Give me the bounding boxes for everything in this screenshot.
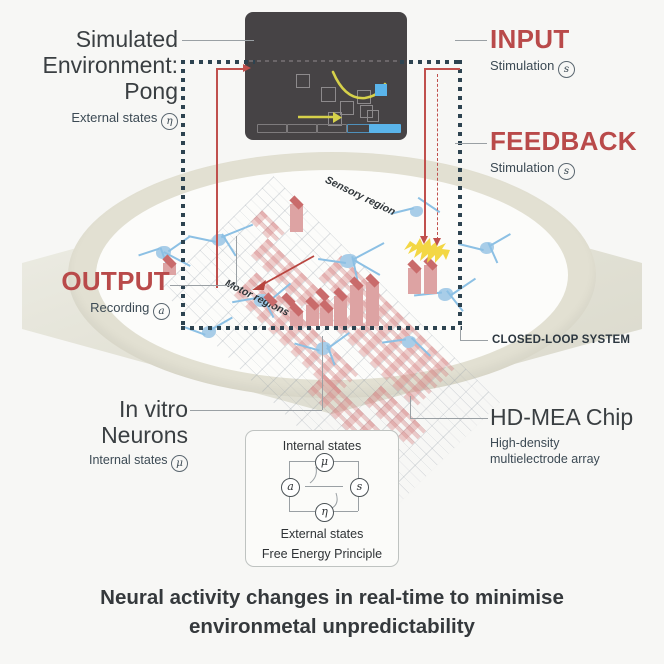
s-glyph-icon: s <box>558 61 575 78</box>
fep-caption: Free Energy Principle <box>246 547 398 561</box>
input-signal-line <box>216 68 246 70</box>
pong-center-net <box>249 60 403 62</box>
leader-hdmea-v <box>410 396 411 419</box>
caption-line2: environmetal unpredictability <box>0 612 664 641</box>
input-arrowhead <box>243 64 251 72</box>
leader-simulated-env <box>182 40 254 41</box>
output-title: OUTPUT <box>0 266 170 297</box>
feedback-top-line <box>424 68 460 70</box>
leader-in-vitro <box>190 410 322 411</box>
leader-feedback <box>455 143 487 144</box>
pong-ball <box>375 84 387 96</box>
in-vitro-neurons-label: In vitro Neurons Internal states μ <box>10 396 188 472</box>
sim-env-title-line1: Simulated <box>10 26 178 52</box>
a-glyph-icon: a <box>153 303 170 320</box>
closed-loop-border-right <box>458 60 462 330</box>
diagram-canvas: Sensory region Motor regions <box>0 0 664 664</box>
feedback-subtitle-row: Stimulation s <box>490 160 637 180</box>
hdmea-subtitle-line2: multielectrode array <box>490 451 633 467</box>
output-signal-line <box>216 68 218 288</box>
leader-output-v <box>236 236 237 286</box>
hdmea-chip-label: HD-MEA Chip High-density multielectrode … <box>490 404 633 467</box>
fep-top-label: Internal states <box>246 439 398 453</box>
figure-caption: Neural activity changes in real-time to … <box>0 583 664 641</box>
feedback-signal-line <box>424 68 426 238</box>
feedback-subtitle: Stimulation <box>490 160 554 175</box>
paddle-segment-active <box>369 124 401 133</box>
fep-bottom-label: External states <box>246 527 398 541</box>
output-subtitle-row: Recording a <box>0 300 170 320</box>
output-direction-arrow <box>248 252 318 294</box>
fep-node-s: s <box>350 478 369 497</box>
caption-line1: Neural activity changes in real-time to … <box>0 583 664 612</box>
pong-block <box>296 74 310 88</box>
sim-env-subtitle: External states <box>71 110 157 125</box>
fep-node-a: a <box>281 478 300 497</box>
feedback-title: FEEDBACK <box>490 126 637 157</box>
sim-env-title-line3: Pong <box>10 78 178 104</box>
leader-closed-loop <box>460 340 488 341</box>
feedback-arrowhead <box>420 236 428 244</box>
leader-input <box>455 40 487 41</box>
feedback-label: FEEDBACK Stimulation s <box>490 126 637 180</box>
fep-node-mu: μ <box>315 453 334 472</box>
pong-game-screen[interactable] <box>245 12 407 140</box>
input-title: INPUT <box>490 24 575 55</box>
sim-env-title-line2: Environment: <box>10 52 178 78</box>
input-label: INPUT Stimulation s <box>490 24 575 78</box>
in-vitro-subtitle: Internal states <box>89 453 168 467</box>
closed-loop-border-left <box>181 60 185 330</box>
paddle-segment <box>257 124 287 133</box>
eta-glyph-icon: η <box>161 113 178 130</box>
simulated-environment-label: Simulated Environment: Pong External sta… <box>10 26 178 130</box>
leader-output <box>170 285 236 286</box>
paddle-segment <box>317 124 347 133</box>
closed-loop-border-bottom <box>181 326 462 330</box>
leader-closed-loop-v <box>460 326 461 341</box>
input-subtitle-row: Stimulation s <box>490 58 575 78</box>
free-energy-principle-box: Internal states μ a s η External states … <box>245 430 399 567</box>
leader-hdmea <box>410 418 488 419</box>
output-label: OUTPUT Recording a <box>0 266 170 320</box>
fep-node-eta: η <box>315 503 334 522</box>
in-vitro-title-line2: Neurons <box>10 422 188 448</box>
in-vitro-title-line1: In vitro <box>10 396 188 422</box>
hdmea-subtitle-line1: High-density <box>490 435 633 451</box>
feedback-dashed-arrowhead <box>433 238 441 246</box>
paddle-segment <box>287 124 317 133</box>
mu-glyph-icon: μ <box>171 455 188 472</box>
closed-loop-system-label: CLOSED-LOOP SYSTEM <box>492 334 630 346</box>
leader-in-vitro-v <box>322 336 323 410</box>
hdmea-title: HD-MEA Chip <box>490 404 633 430</box>
input-subtitle: Stimulation <box>490 58 554 73</box>
output-subtitle: Recording <box>90 300 149 315</box>
pong-block <box>367 110 379 122</box>
sim-env-subtitle-row: External states η <box>10 110 178 130</box>
hdmea-subtitle: High-density multielectrode array <box>490 435 633 467</box>
closed-loop-border-top2 <box>400 60 462 64</box>
in-vitro-subtitle-row: Internal states μ <box>10 453 188 472</box>
s-glyph-icon-feedback: s <box>558 163 575 180</box>
paddle-move-arrow <box>297 112 343 124</box>
feedback-dashed-line <box>437 74 438 240</box>
markov-blanket-graph: μ a s η <box>280 457 366 519</box>
